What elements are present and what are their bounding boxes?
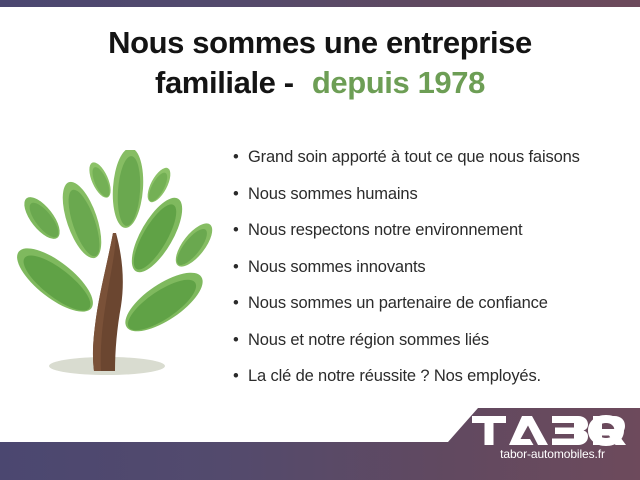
top-accent-bar [0, 0, 640, 7]
list-item-label: La clé de notre réussite ? Nos employés. [248, 367, 541, 385]
list-item: • Nous sommes un partenaire de confiance [232, 294, 632, 313]
list-item: • La clé de notre réussite ? Nos employé… [232, 367, 632, 386]
bullet-marker-icon: • [233, 331, 239, 350]
list-item-label: Nous sommes innovants [248, 258, 426, 276]
bullet-marker-icon: • [233, 367, 239, 386]
brand-logo[interactable]: tabor-automobiles.fr [470, 412, 635, 470]
value-proposition-list: • Grand soin apporté à tout ce que nous … [232, 148, 632, 404]
list-item: • Nous et notre région sommes liés [232, 331, 632, 350]
list-item: • Nous sommes humains [232, 185, 632, 204]
list-item: • Nous respectons notre environnement [232, 221, 632, 240]
list-item-label: Nous respectons notre environnement [248, 221, 523, 239]
bullet-marker-icon: • [233, 294, 239, 313]
slide-canvas: Nous sommes une entreprise familiale - d… [0, 0, 640, 480]
list-item-label: Nous et notre région sommes liés [248, 331, 489, 349]
list-item: • Nous sommes innovants [232, 258, 632, 277]
bullet-marker-icon: • [233, 185, 239, 204]
bullet-marker-icon: • [233, 148, 239, 167]
headline-line-2: familiale - depuis 1978 [0, 66, 640, 101]
brand-tagline: tabor-automobiles.fr [470, 447, 635, 461]
headline-line-2-black: familiale - [155, 65, 302, 100]
list-item-label: Grand soin apporté à tout ce que nous fa… [248, 148, 580, 166]
headline-accent-year: depuis 1978 [312, 65, 485, 100]
brand-footer: tabor-automobiles.fr [0, 400, 640, 480]
list-item-label: Nous sommes un partenaire de confiance [248, 294, 548, 312]
page-title: Nous sommes une entreprise familiale - d… [0, 26, 640, 100]
tree-icon [12, 150, 217, 390]
list-item: • Grand soin apporté à tout ce que nous … [232, 148, 632, 167]
headline-line-1: Nous sommes une entreprise [0, 26, 640, 61]
bullet-marker-icon: • [233, 221, 239, 240]
list-item-label: Nous sommes humains [248, 185, 418, 203]
bullet-marker-icon: • [233, 258, 239, 277]
